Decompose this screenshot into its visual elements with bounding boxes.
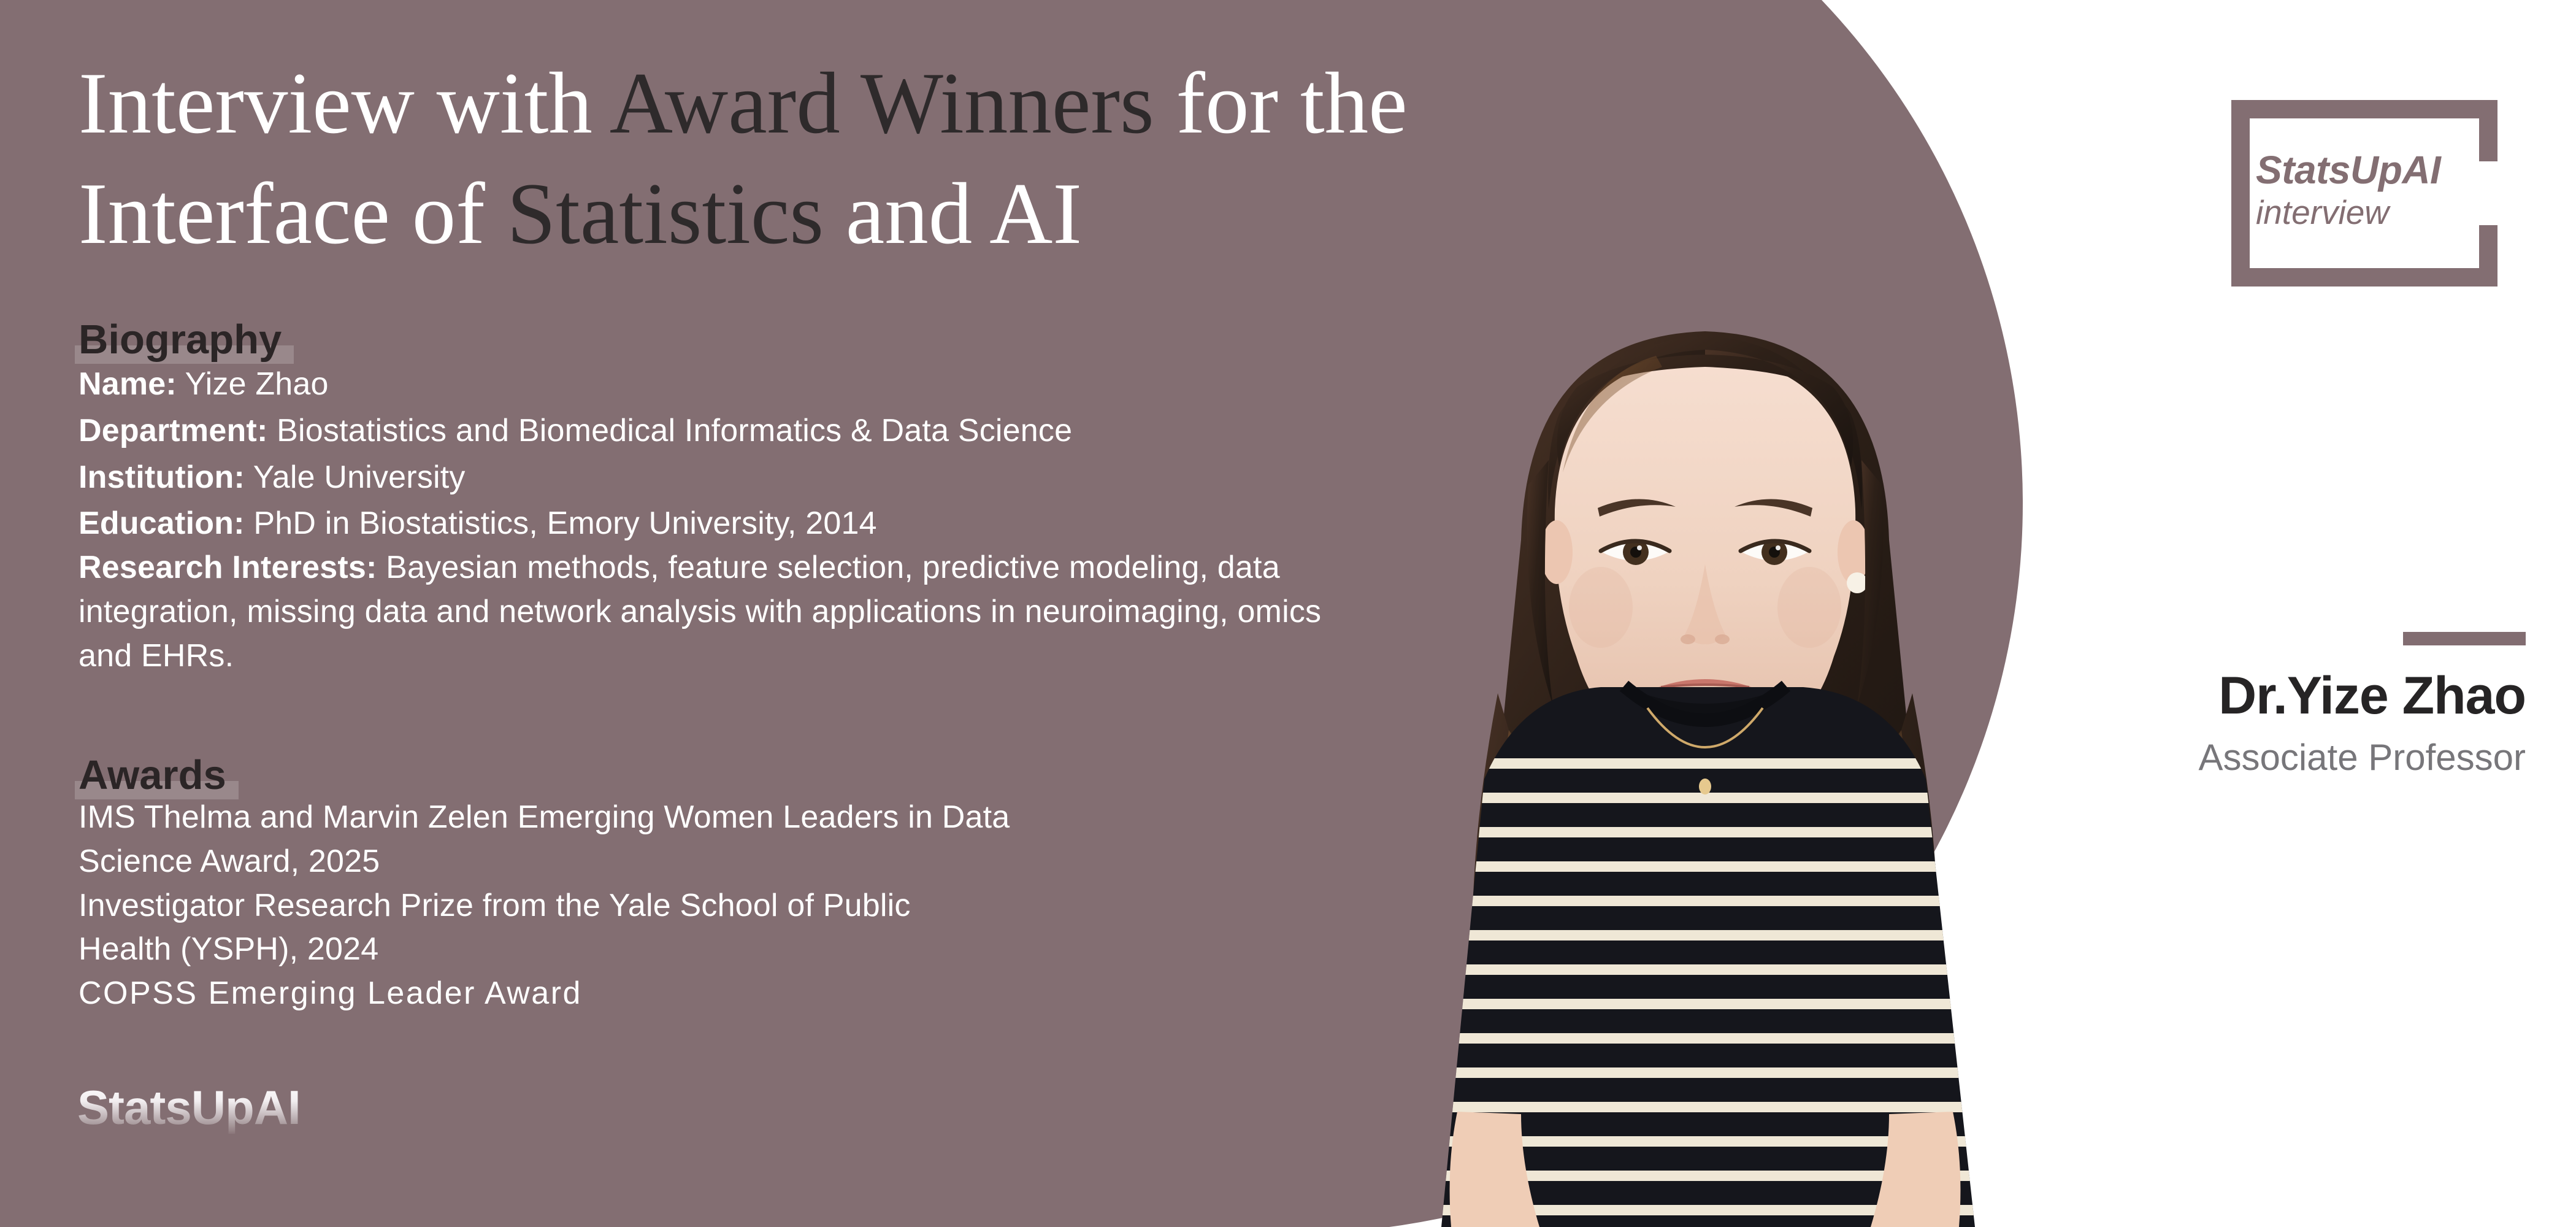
- logo-wordmark: StatsUpAI: [2256, 150, 2520, 190]
- bio-value-name: Yize Zhao: [177, 366, 329, 402]
- bio-label-research: Research Interests:: [79, 550, 377, 585]
- bio-value-institution: Yale University: [245, 460, 466, 495]
- statsupai-logo: StatsUpAI interview: [2226, 95, 2502, 291]
- footer-wordmark: StatsUpAI: [77, 1080, 301, 1136]
- slide-canvas: Interview with Award Winners for the Int…: [0, 0, 2576, 1227]
- page-title: Interview with Award Winners for the Int…: [79, 48, 1857, 269]
- biography-heading: Biography: [79, 319, 285, 360]
- biography-section: Biography Name: Yize Zhao Department: Bi…: [79, 319, 1336, 678]
- award-item: IMS Thelma and Marvin Zelen Emerging Wom…: [79, 796, 1305, 840]
- bio-field-research-interests: Research Interests: Bayesian methods, fe…: [79, 546, 1336, 678]
- awards-heading: Awards: [79, 755, 230, 796]
- title-part-6: and AI: [824, 165, 1082, 262]
- award-item: Health (YSPH), 2024: [79, 928, 1305, 972]
- bio-value-department: Biostatistics and Biomedical Informatics…: [267, 413, 1072, 448]
- awards-section: Awards IMS Thelma and Marvin Zelen Emerg…: [79, 755, 1305, 1016]
- title-part-2: Award Winners: [610, 55, 1154, 152]
- bio-label-department: Department:: [79, 413, 267, 448]
- bio-value-education: PhD in Biostatistics, Emory University, …: [245, 506, 877, 541]
- bio-field-name: Name: Yize Zhao: [79, 363, 1336, 407]
- title-part-5: Statistics: [507, 165, 824, 262]
- speaker-namecard: Dr.Yize Zhao Associate Professor: [1974, 632, 2526, 776]
- title-part-1: Interview with: [79, 55, 610, 152]
- title-part-4: Interface of: [79, 165, 507, 262]
- bio-field-institution: Institution: Yale University: [79, 456, 1336, 500]
- portrait-photo: [1337, 264, 2073, 1227]
- speaker-name: Dr.Yize Zhao: [1974, 669, 2526, 722]
- award-item: Science Award, 2025: [79, 840, 1305, 884]
- award-item: COPSS Emerging Leader Award: [79, 972, 1305, 1016]
- bio-field-department: Department: Biostatistics and Biomedical…: [79, 409, 1336, 453]
- title-part-3: for the: [1154, 55, 1408, 152]
- bio-label-education: Education:: [79, 506, 245, 541]
- speaker-role: Associate Professor: [1974, 739, 2526, 776]
- logo-subtitle: interview: [2256, 194, 2520, 231]
- bio-label-institution: Institution:: [79, 460, 245, 495]
- bio-field-education: Education: PhD in Biostatistics, Emory U…: [79, 502, 1336, 546]
- bio-label-name: Name:: [79, 366, 177, 402]
- namecard-accent-rule: [2403, 632, 2526, 645]
- award-item: Investigator Research Prize from the Yal…: [79, 884, 1305, 928]
